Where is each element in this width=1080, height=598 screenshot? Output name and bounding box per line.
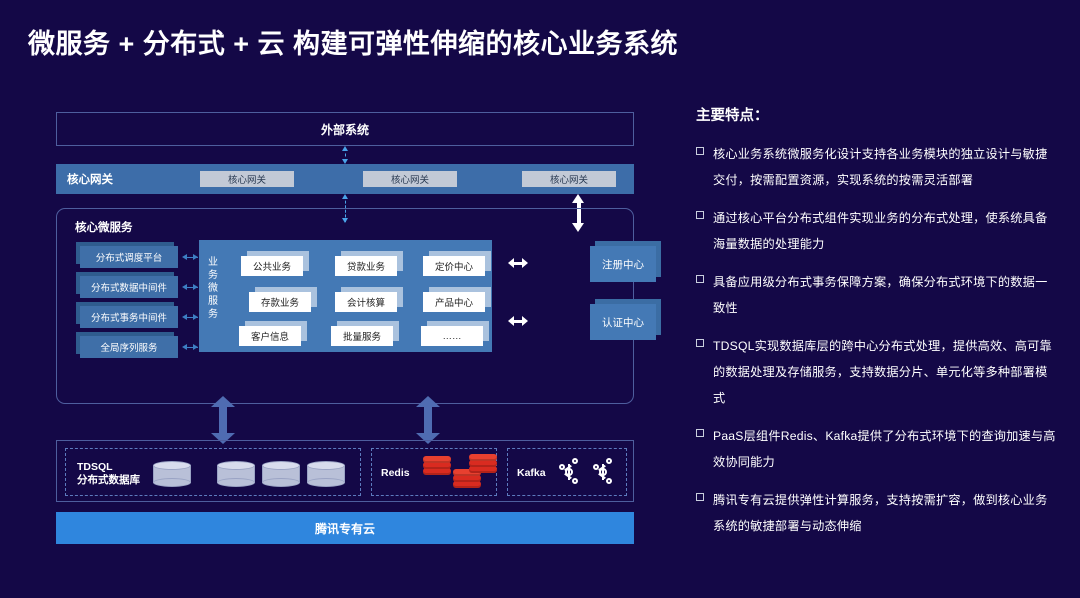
feature-item: 具备应用级分布式事务保障方案，确保分布式环境下的数据一致性 (696, 269, 1056, 321)
feature-text: 通过核心平台分布式组件实现业务的分布式处理，使系统具备海量数据的处理能力 (713, 205, 1056, 257)
feature-item: PaaS层组件Redis、Kafka提供了分布式环境下的查询加速与高效协同能力 (696, 423, 1056, 475)
connector-arrow-up-icon (342, 194, 348, 199)
component-registry-center[interactable]: 注册中心 (590, 246, 656, 282)
feature-text: 腾讯专有云提供弹性计算服务，支持按需扩容，做到核心业务系统的敏捷部署与动态伸缩 (713, 487, 1056, 539)
component-label: 分布式事务中间件 (80, 306, 178, 328)
service-card-label: 产品中心 (423, 292, 485, 312)
component-scheduling-platform[interactable]: 分布式调度平台 (80, 246, 178, 268)
connector-arrow-left-icon (182, 284, 187, 290)
connector-arrow-up-icon (342, 146, 348, 151)
service-card-label: 会计核算 (335, 292, 397, 312)
feature-item: 核心业务系统微服务化设计支持各业务模块的独立设计与敏捷交付，按需配置资源，实现系… (696, 141, 1056, 193)
bullet-square-icon (696, 147, 704, 155)
connector-arrow-right-icon (193, 344, 198, 350)
data-layer-panel: TDSQL 分布式数据库 Redis (56, 440, 634, 502)
core-to-paas-double-arrow-icon (416, 396, 440, 444)
feature-item: 腾讯专有云提供弹性计算服务，支持按需扩容，做到核心业务系统的敏捷部署与动态伸缩 (696, 487, 1056, 539)
service-card-label: 存款业务 (249, 292, 311, 312)
feature-text: 具备应用级分布式事务保障方案，确保分布式环境下的数据一致性 (713, 269, 1056, 321)
core-to-data-double-arrow-icon (211, 396, 235, 444)
redis-icon (423, 456, 451, 478)
service-card-batch-service[interactable]: 批量服务 (331, 326, 393, 346)
service-card-product-center[interactable]: 产品中心 (423, 292, 485, 312)
gateway-chip-1[interactable]: 核心网关 (200, 171, 294, 187)
service-card-accounting[interactable]: 会计核算 (335, 292, 397, 312)
connector-arrow-right-icon (193, 314, 198, 320)
bullet-square-icon (696, 211, 704, 219)
architecture-diagram: 外部系统 核心网关 核心网关 核心网关 核心网关 核心微服务 分布式调度平台 (56, 112, 634, 544)
core-microservices-title: 核心微服务 (75, 219, 133, 235)
service-card-customer-info[interactable]: 客户信息 (239, 326, 301, 346)
connector-arrow-left-icon (182, 344, 187, 350)
database-cylinder-icon (217, 461, 255, 487)
features-section: 主要特点： 核心业务系统微服务化设计支持各业务模块的独立设计与敏捷交付，按需配置… (696, 104, 1056, 551)
database-cylinder-icon (307, 461, 345, 487)
connector-arrow-right-icon (193, 284, 198, 290)
external-system-label: 外部系统 (321, 121, 369, 138)
business-microservices-vertical-label: 业务微服务 (205, 256, 221, 321)
bullet-square-icon (696, 339, 704, 347)
database-cylinder-icon (153, 461, 191, 487)
page-title: 微服务 + 分布式 + 云 构建可弹性伸缩的核心业务系统 (28, 22, 678, 61)
component-global-sequence-service[interactable]: 全局序列服务 (80, 336, 178, 358)
service-card-label: 客户信息 (239, 326, 301, 346)
external-system-box: 外部系统 (56, 112, 634, 146)
core-gateway-band-label: 核心网关 (67, 171, 139, 187)
gateway-chip-3[interactable]: 核心网关 (522, 171, 616, 187)
auth-double-arrow-icon (508, 316, 528, 327)
business-microservices-panel: 业务微服务 公共业务 贷款业务 定价中心 存款业务 会计核算 (199, 240, 492, 352)
database-cylinder-icon (262, 461, 300, 487)
service-card-label: 批量服务 (331, 326, 393, 346)
cloud-band-label: 腾讯专有云 (315, 520, 375, 537)
feature-text: 核心业务系统微服务化设计支持各业务模块的独立设计与敏捷交付，按需配置资源，实现系… (713, 141, 1056, 193)
bullet-square-icon (696, 493, 704, 501)
service-card-more[interactable]: …… (421, 326, 483, 346)
service-card-label: 贷款业务 (335, 256, 397, 276)
service-card-public-business[interactable]: 公共业务 (241, 256, 303, 276)
core-gateway-band: 核心网关 核心网关 核心网关 核心网关 (56, 164, 634, 194)
component-label: 分布式数据中间件 (80, 276, 178, 298)
connector-arrow-right-icon (193, 254, 198, 260)
service-card-loan-business[interactable]: 贷款业务 (335, 256, 397, 276)
bullet-square-icon (696, 275, 704, 283)
feature-item: 通过核心平台分布式组件实现业务的分布式处理，使系统具备海量数据的处理能力 (696, 205, 1056, 257)
component-data-middleware[interactable]: 分布式数据中间件 (80, 276, 178, 298)
slide-root: 微服务 + 分布式 + 云 构建可弹性伸缩的核心业务系统 外部系统 核心网关 核… (0, 0, 1080, 598)
bullet-square-icon (696, 429, 704, 437)
connector-arrow-left-icon (182, 254, 187, 260)
service-card-label: 公共业务 (241, 256, 303, 276)
component-label: 认证中心 (590, 304, 656, 340)
component-label: 全局序列服务 (80, 336, 178, 358)
service-card-deposit-business[interactable]: 存款业务 (249, 292, 311, 312)
service-card-pricing-center[interactable]: 定价中心 (423, 256, 485, 276)
feature-item: TDSQL实现数据库层的跨中心分布式处理，提供高效、高可靠的数据处理及存储服务，… (696, 333, 1056, 411)
registry-double-arrow-icon (508, 258, 528, 269)
component-transaction-middleware[interactable]: 分布式事务中间件 (80, 306, 178, 328)
feature-text: TDSQL实现数据库层的跨中心分布式处理，提供高效、高可靠的数据处理及存储服务，… (713, 333, 1056, 411)
tencent-private-cloud-band: 腾讯专有云 (56, 512, 634, 544)
feature-text: PaaS层组件Redis、Kafka提供了分布式环境下的查询加速与高效协同能力 (713, 423, 1056, 475)
tdsql-label: TDSQL 分布式数据库 (77, 461, 140, 487)
redis-icon (469, 454, 497, 476)
component-label: 分布式调度平台 (80, 246, 178, 268)
service-card-label: 定价中心 (423, 256, 485, 276)
component-label: 注册中心 (590, 246, 656, 282)
kafka-icon (593, 458, 615, 486)
connector-arrow-left-icon (182, 314, 187, 320)
component-auth-center[interactable]: 认证中心 (590, 304, 656, 340)
redis-label: Redis (381, 467, 410, 480)
gateway-chip-2[interactable]: 核心网关 (363, 171, 457, 187)
service-card-label: …… (421, 326, 483, 346)
kafka-label: Kafka (517, 467, 546, 480)
kafka-icon (559, 458, 581, 486)
features-title: 主要特点： (696, 104, 1056, 125)
